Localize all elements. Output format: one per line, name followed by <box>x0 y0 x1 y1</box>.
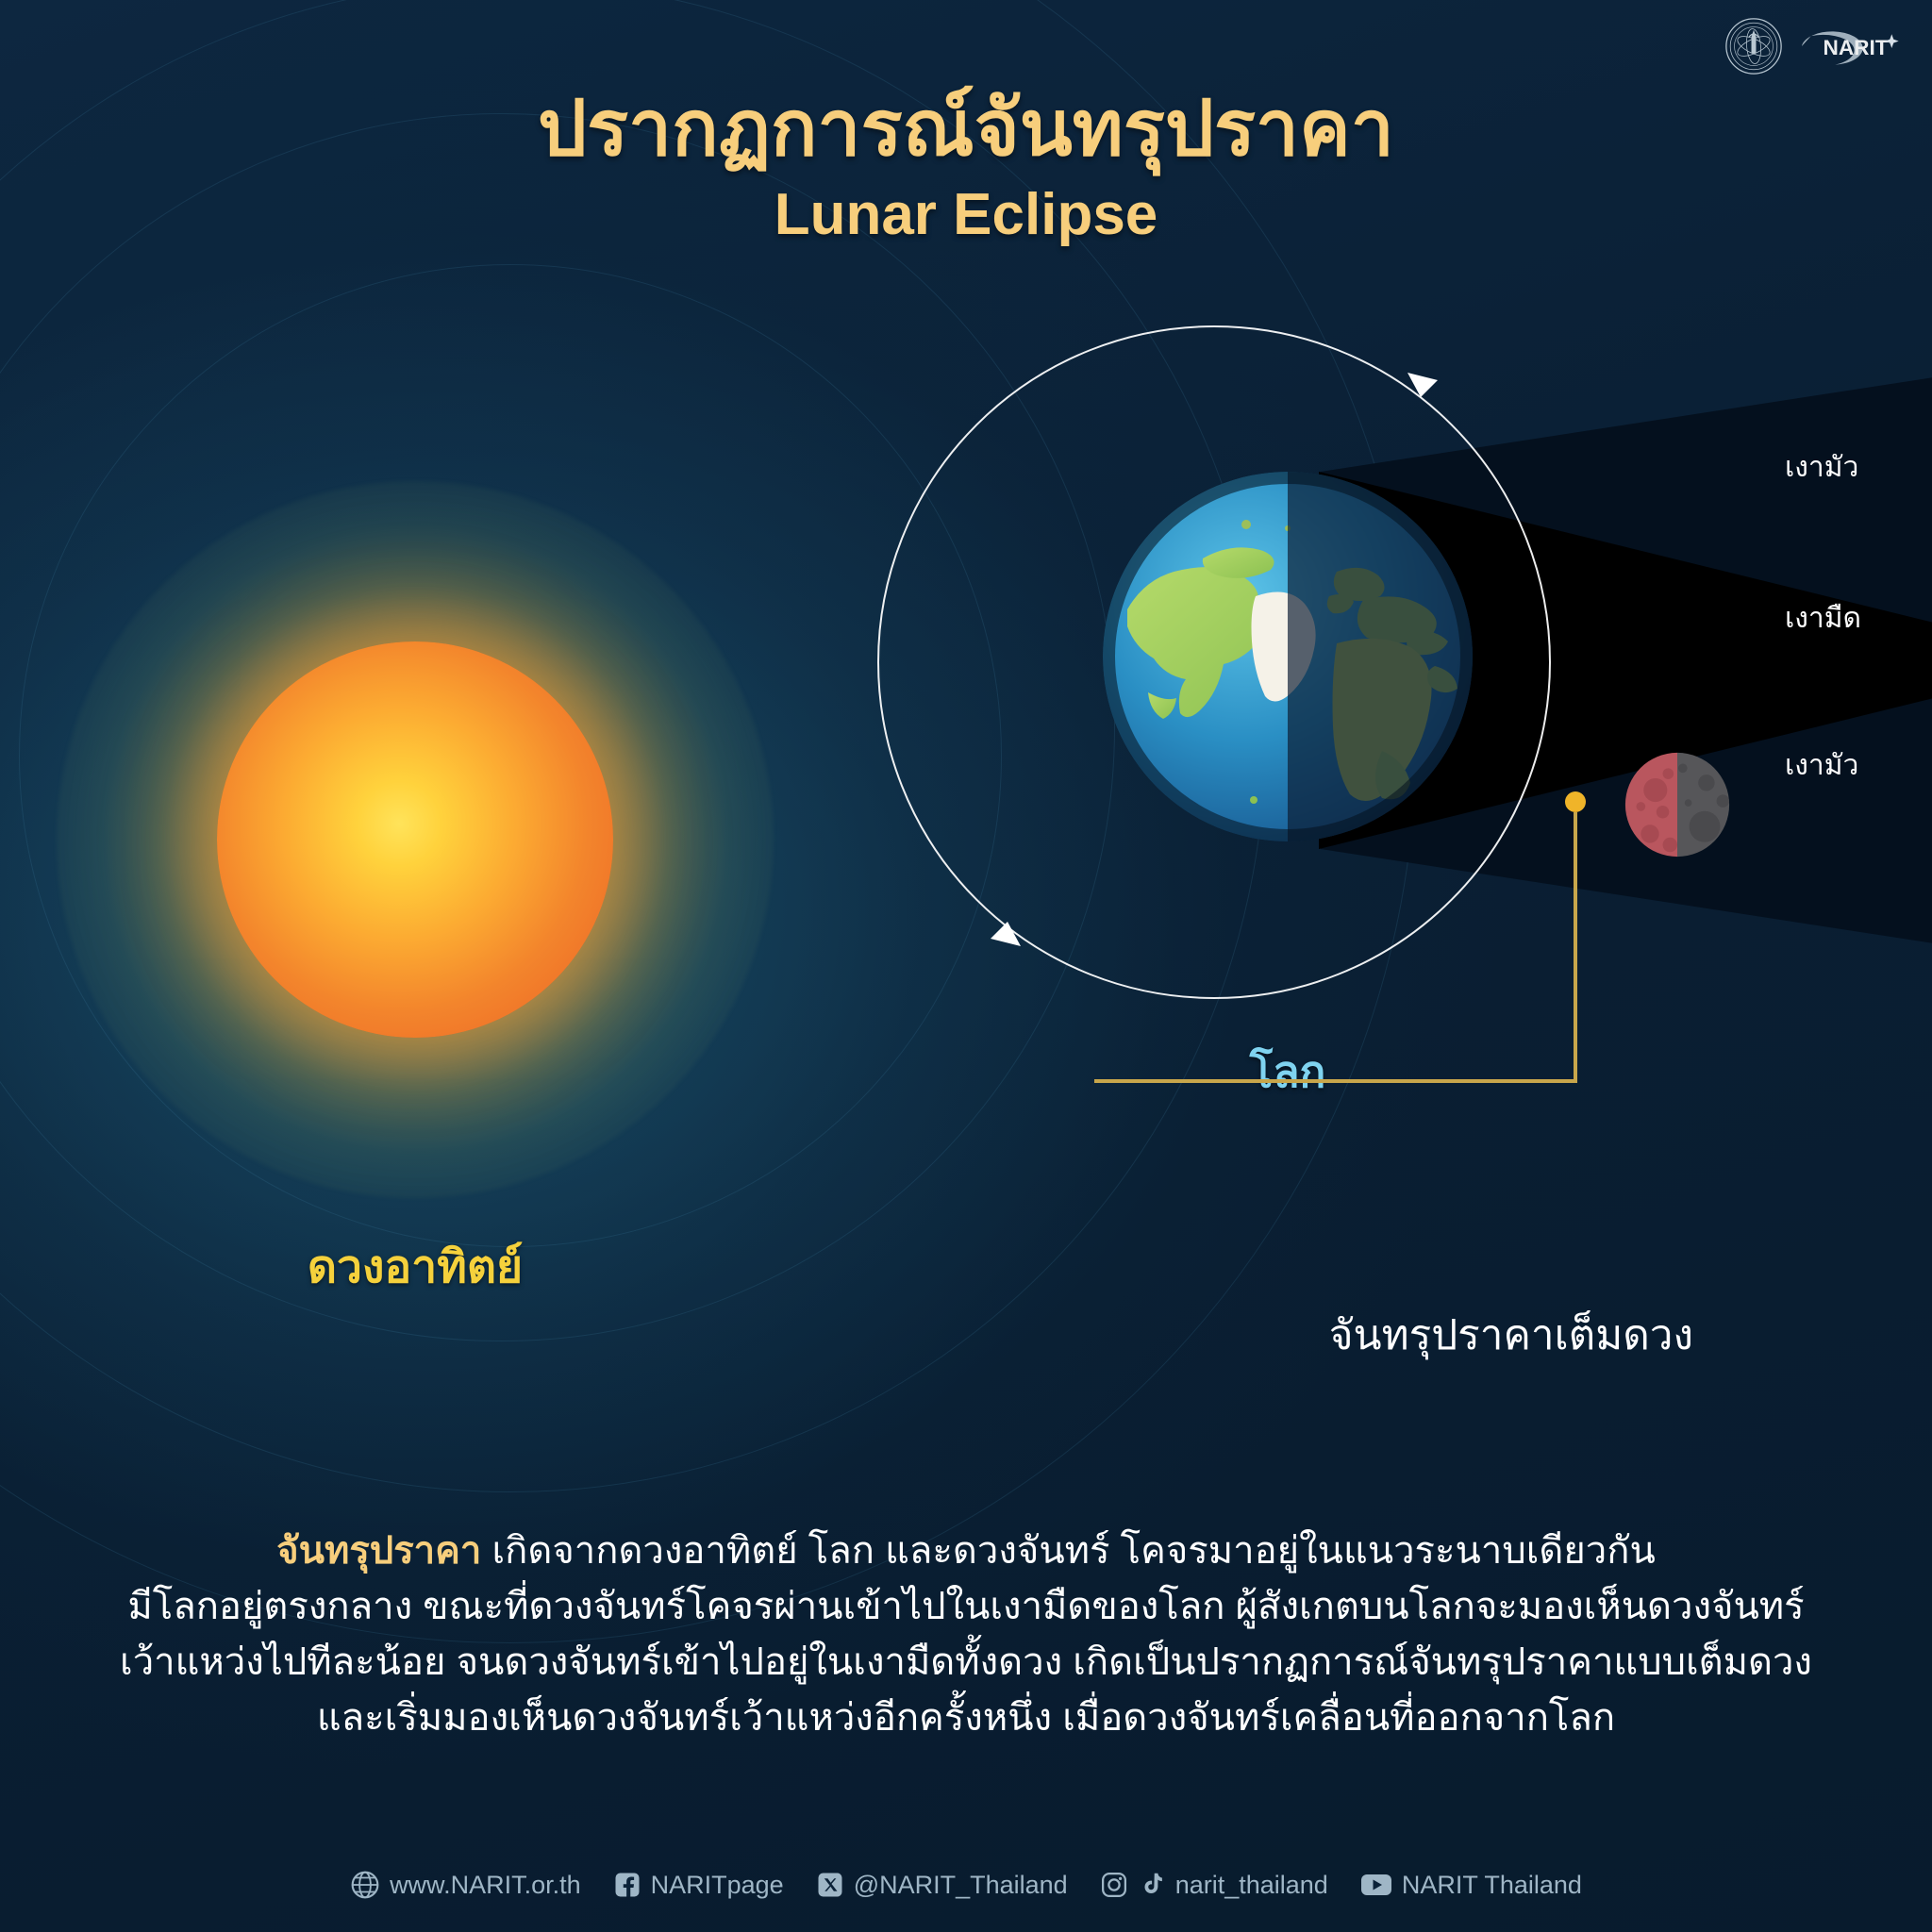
eclipse-diagram: ดวงอาทิตย์ <box>0 283 1932 1415</box>
narit-logo: NARIT <box>1724 17 1907 75</box>
moon-crater-7 <box>1690 811 1721 842</box>
description-paragraph: จันทรุปราคา เกิดจากดวงอาทิตย์ โลก และดวง… <box>0 1524 1932 1746</box>
tiktok-icon <box>1138 1871 1166 1899</box>
x-twitter-icon <box>816 1871 844 1899</box>
youtube-icon <box>1360 1873 1392 1897</box>
penumbra-top-label: เงามัว <box>1785 445 1858 490</box>
paragraph-line-1: จันทรุปราคา เกิดจากดวงอาทิตย์ โลก และดวง… <box>0 1524 1932 1579</box>
paragraph-lead-term: จันทรุปราคา <box>276 1530 481 1572</box>
sun-label: ดวงอาทิตย์ <box>57 1231 774 1303</box>
footer-youtube[interactable]: NARIT Thailand <box>1360 1871 1582 1900</box>
callout-anchor-dot <box>1565 791 1586 812</box>
sun <box>57 481 774 1198</box>
footer-website[interactable]: www.NARIT.or.th <box>350 1870 581 1900</box>
page-subtitle: Lunar Eclipse <box>0 181 1932 248</box>
instagram-icon <box>1100 1871 1128 1899</box>
footer-website-label: www.NARIT.or.th <box>390 1871 581 1900</box>
moon-crater-8 <box>1698 774 1714 791</box>
sun-core <box>217 641 613 1038</box>
title-block: ปรากฏการณ์จันทรุปราคา Lunar Eclipse <box>0 89 1932 248</box>
callout-leader <box>1085 613 1670 1085</box>
moon-crater-11 <box>1678 764 1688 774</box>
umbra-label: เงามืด <box>1785 596 1861 641</box>
footer-x[interactable]: @NARIT_Thailand <box>816 1871 1068 1900</box>
social-footer: www.NARIT.or.th NARITpage @NARIT_Thailan… <box>0 1870 1932 1900</box>
penumbra-bottom-label: เงามัว <box>1785 743 1858 788</box>
orbit-arrow-top <box>1407 373 1438 397</box>
earth-isle-1 <box>1241 520 1251 529</box>
callout-label: จันทรุปราคาเต็มดวง <box>1165 1302 1693 1368</box>
footer-instagram-tiktok-label: narit_thailand <box>1175 1871 1328 1900</box>
footer-facebook[interactable]: NARITpage <box>613 1871 784 1900</box>
paragraph-line-4: และเริ่มมองเห็นดวงจันทร์เว้าแหว่งอีกครั้… <box>0 1690 1932 1746</box>
footer-instagram-tiktok[interactable]: narit_thailand <box>1100 1871 1328 1900</box>
moon-crater-10 <box>1685 799 1692 807</box>
narit-seal-icon <box>1724 17 1783 75</box>
moon-crater-9 <box>1717 794 1730 808</box>
svg-text:NARIT: NARIT <box>1824 36 1889 59</box>
footer-youtube-label: NARIT Thailand <box>1402 1871 1582 1900</box>
callout-leader-path <box>1094 812 1575 1081</box>
paragraph-line-3: เว้าแหว่งไปทีละน้อย จนดวงจันทร์เข้าไปอยู… <box>0 1635 1932 1690</box>
footer-x-label: @NARIT_Thailand <box>854 1871 1068 1900</box>
facebook-icon <box>613 1871 641 1899</box>
page-title: ปรากฏการณ์จันทรุปราคา <box>0 89 1932 170</box>
paragraph-line-2: มีโลกอยู่ตรงกลาง ขณะที่ดวงจันทร์โคจรผ่าน… <box>0 1579 1932 1635</box>
paragraph-line-1-rest: เกิดจากดวงอาทิตย์ โลก และดวงจันทร์ โคจรม… <box>481 1530 1655 1572</box>
footer-facebook-label: NARITpage <box>651 1871 784 1900</box>
globe-icon <box>350 1870 380 1900</box>
narit-wordmark-icon: NARIT <box>1796 25 1907 68</box>
orbit-arrow-bottom <box>991 922 1021 946</box>
